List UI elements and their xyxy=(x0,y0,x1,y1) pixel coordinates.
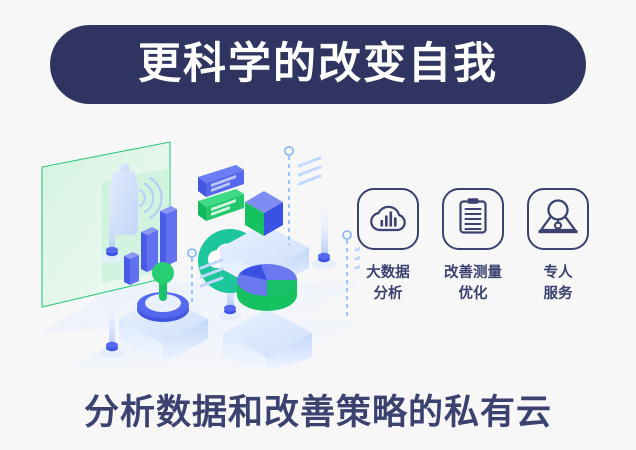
feature-label-line2: 优化 xyxy=(444,284,502,305)
pie-chart-3d xyxy=(237,264,297,311)
headline-banner: 更科学的改变自我 xyxy=(50,25,586,104)
feature-label: 改善测量 优化 xyxy=(444,263,502,305)
cloud-bar-chart-icon xyxy=(368,200,408,239)
feature-dedicated-service[interactable]: 专人 服务 xyxy=(522,188,594,305)
feature-label-line1: 专人 xyxy=(544,263,573,284)
isometric-illustration xyxy=(40,120,360,370)
isometric-cube xyxy=(245,191,283,236)
tagline: 分析数据和改善策略的私有云 xyxy=(0,384,636,435)
page-title: 更科学的改变自我 xyxy=(138,43,498,86)
feature-big-data-analysis[interactable]: 大数据 分析 xyxy=(352,188,424,305)
clipboard-icon xyxy=(456,197,490,242)
feature-list: 大数据 分析 xyxy=(352,188,594,305)
promo-banner-page: 更科学的改变自我 xyxy=(0,0,636,450)
feature-label-line1: 大数据 xyxy=(366,263,410,284)
feature-label: 大数据 分析 xyxy=(366,263,410,305)
feature-badge xyxy=(357,188,419,250)
support-person-icon xyxy=(537,198,579,241)
feature-label-line2: 分析 xyxy=(366,284,410,305)
feature-badge xyxy=(527,188,589,250)
feature-label-line2: 服务 xyxy=(544,284,573,305)
location-pin-right xyxy=(312,200,336,269)
feature-measurement-optimization[interactable]: 改善测量 优化 xyxy=(437,188,509,305)
feature-label-line1: 改善测量 xyxy=(444,263,502,284)
feature-label: 专人 服务 xyxy=(544,263,573,305)
feature-badge xyxy=(442,188,504,250)
